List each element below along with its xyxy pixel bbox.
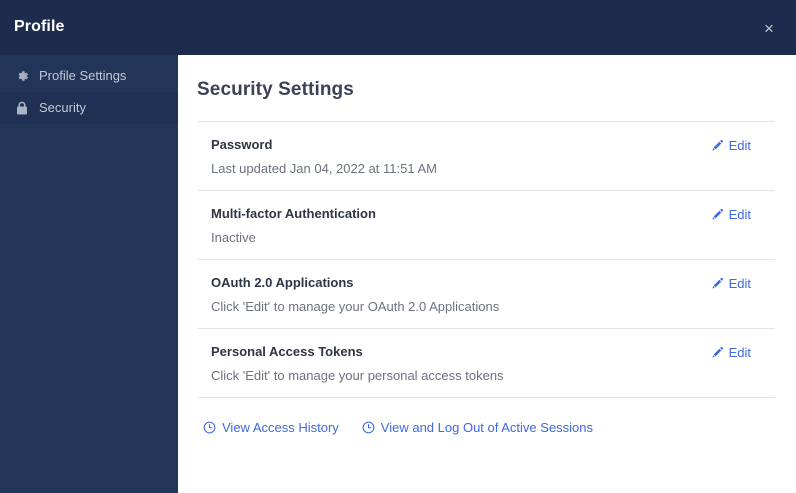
row-subtitle: Inactive <box>211 229 376 246</box>
sidebar-item-security[interactable]: Security <box>0 92 178 124</box>
edit-password-link[interactable]: Edit <box>711 137 775 154</box>
edit-personal-access-tokens-link[interactable]: Edit <box>711 344 775 361</box>
edit-label: Edit <box>729 206 751 223</box>
settings-row-personal-access-tokens: Personal Access Tokens Click 'Edit' to m… <box>197 329 775 397</box>
sidebar-item-label: Profile Settings <box>39 68 126 84</box>
edit-label: Edit <box>729 275 751 292</box>
footer-links: View Access History View and Log Out of … <box>197 398 775 436</box>
row-title: Personal Access Tokens <box>211 343 504 360</box>
row-subtitle: Click 'Edit' to manage your personal acc… <box>211 367 504 384</box>
settings-row-password: Password Last updated Jan 04, 2022 at 11… <box>197 122 775 190</box>
close-icon[interactable]: × <box>754 13 784 43</box>
settings-row-mfa: Multi-factor Authentication Inactive Edi… <box>197 191 775 259</box>
edit-label: Edit <box>729 137 751 154</box>
view-active-sessions-link[interactable]: View and Log Out of Active Sessions <box>362 419 593 436</box>
view-access-history-link[interactable]: View Access History <box>203 419 339 436</box>
row-title: Multi-factor Authentication <box>211 205 376 222</box>
clock-icon <box>203 421 216 434</box>
row-title: OAuth 2.0 Applications <box>211 274 499 291</box>
edit-label: Edit <box>729 344 751 361</box>
dialog-title: Profile <box>14 17 65 37</box>
sidebar-item-label: Security <box>39 100 86 116</box>
edit-oauth-applications-link[interactable]: Edit <box>711 275 775 292</box>
page-title: Security Settings <box>197 78 775 102</box>
clock-icon <box>362 421 375 434</box>
row-subtitle: Click 'Edit' to manage your OAuth 2.0 Ap… <box>211 298 499 315</box>
sidebar: Profile Settings Security <box>0 55 178 493</box>
gear-icon <box>14 68 30 84</box>
row-texts: Password Last updated Jan 04, 2022 at 11… <box>197 136 437 177</box>
profile-dialog: Profile × Profile Settings Security Sec <box>0 0 796 493</box>
footer-link-label: View Access History <box>222 419 339 436</box>
security-settings-panel: Security Settings Password Last updated … <box>178 55 796 493</box>
lock-icon <box>14 100 30 116</box>
sidebar-item-profile-settings[interactable]: Profile Settings <box>0 60 178 92</box>
pencil-icon <box>711 208 724 221</box>
pencil-icon <box>711 346 724 359</box>
dialog-titlebar: Profile × <box>0 0 796 55</box>
pencil-icon <box>711 277 724 290</box>
settings-row-oauth-applications: OAuth 2.0 Applications Click 'Edit' to m… <box>197 260 775 328</box>
row-texts: Multi-factor Authentication Inactive <box>197 205 376 246</box>
row-title: Password <box>211 136 437 153</box>
pencil-icon <box>711 139 724 152</box>
footer-link-label: View and Log Out of Active Sessions <box>381 419 593 436</box>
row-texts: Personal Access Tokens Click 'Edit' to m… <box>197 343 504 384</box>
row-texts: OAuth 2.0 Applications Click 'Edit' to m… <box>197 274 499 315</box>
edit-mfa-link[interactable]: Edit <box>711 206 775 223</box>
row-subtitle: Last updated Jan 04, 2022 at 11:51 AM <box>211 160 437 177</box>
